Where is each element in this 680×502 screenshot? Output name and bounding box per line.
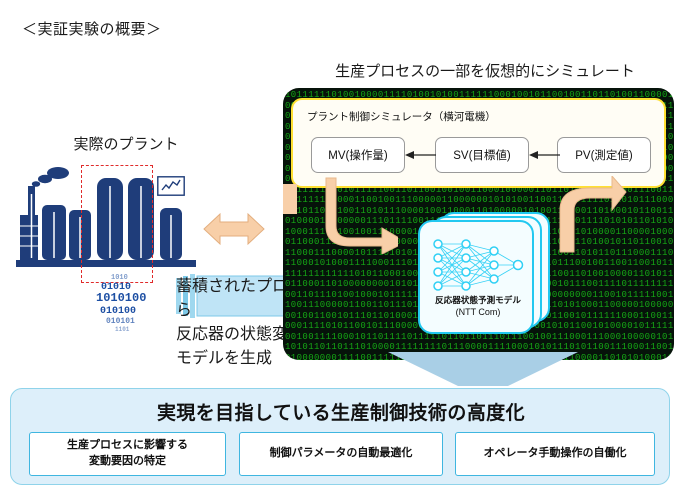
- line-chart-monitor-icon: [157, 176, 185, 196]
- model-card-label: 反応器状態予測モデル (NTT Com): [420, 294, 536, 320]
- page-title: ＜実証実験の概要＞: [22, 18, 162, 39]
- svg-text:010101: 010101: [106, 317, 135, 326]
- svg-text:010100: 010100: [100, 306, 136, 317]
- outcome-1-line-1: 制御パラメータの自動最適化: [270, 446, 413, 462]
- sv-box[interactable]: SV(目標値): [435, 137, 529, 173]
- down-arrow-icon: [388, 352, 578, 388]
- outcome-panel: 実現を目指している生産制御技術の高度化 生産プロセスに影響する 変動要因の特定 …: [10, 388, 670, 485]
- plant-section-label: 実際のプラント: [46, 133, 206, 154]
- simulator-card-title: プラント制御シミュレータ（横河電機）: [307, 109, 496, 124]
- binary-data-sphere-icon: 1010 01010 1010100 010100 010101 1101: [93, 268, 165, 334]
- mv-box[interactable]: MV(操作量): [311, 137, 405, 173]
- svg-text:1010100: 1010100: [96, 291, 146, 305]
- sv-to-mv-arrow-icon: [405, 149, 437, 161]
- svg-text:1010: 1010: [111, 274, 128, 282]
- simulate-caption: 生産プロセスの一部を仮想的にシミュレート: [300, 60, 670, 81]
- neural-network-icon: [428, 236, 528, 294]
- outcome-0-line-2: 変動要因の特定: [67, 454, 188, 470]
- bidirectional-arrow-icon: [203, 208, 265, 250]
- pv-box[interactable]: PV(測定値): [557, 137, 651, 173]
- outcome-box-parameter-optimisation[interactable]: 制御パラメータの自動最適化: [239, 432, 443, 476]
- orange-connector-icon: [283, 184, 297, 214]
- model-name: 反応器状態予測モデル: [420, 294, 536, 306]
- outcome-2-line-1: オペレータ手動操作の自働化: [484, 446, 627, 462]
- reaction-unit-focus-box: [81, 165, 153, 283]
- simulator-card: プラント制御シミュレータ（横河電機） MV(操作量) SV(目標値) PV(測定…: [291, 98, 666, 188]
- outcome-title: 実現を目指している生産制御技術の高度化: [11, 398, 671, 425]
- outcome-box-operator-automation[interactable]: オペレータ手動操作の自働化: [455, 432, 655, 476]
- model-card-front[interactable]: 反応器状態予測モデル (NTT Com): [418, 220, 534, 334]
- curved-arrow-mv-to-model-icon: [322, 176, 398, 254]
- outcome-box-variation-factors[interactable]: 生産プロセスに影響する 変動要因の特定: [29, 432, 226, 476]
- curved-arrow-model-to-pv-icon: [556, 176, 632, 254]
- model-card-stack: 反応器状態予測モデル (NTT Com): [418, 212, 553, 334]
- outcome-0-line-1: 生産プロセスに影響する: [67, 438, 188, 454]
- svg-text:1101: 1101: [115, 326, 130, 333]
- model-vendor: (NTT Com): [420, 306, 536, 319]
- pv-to-sv-arrow-icon: [529, 149, 561, 161]
